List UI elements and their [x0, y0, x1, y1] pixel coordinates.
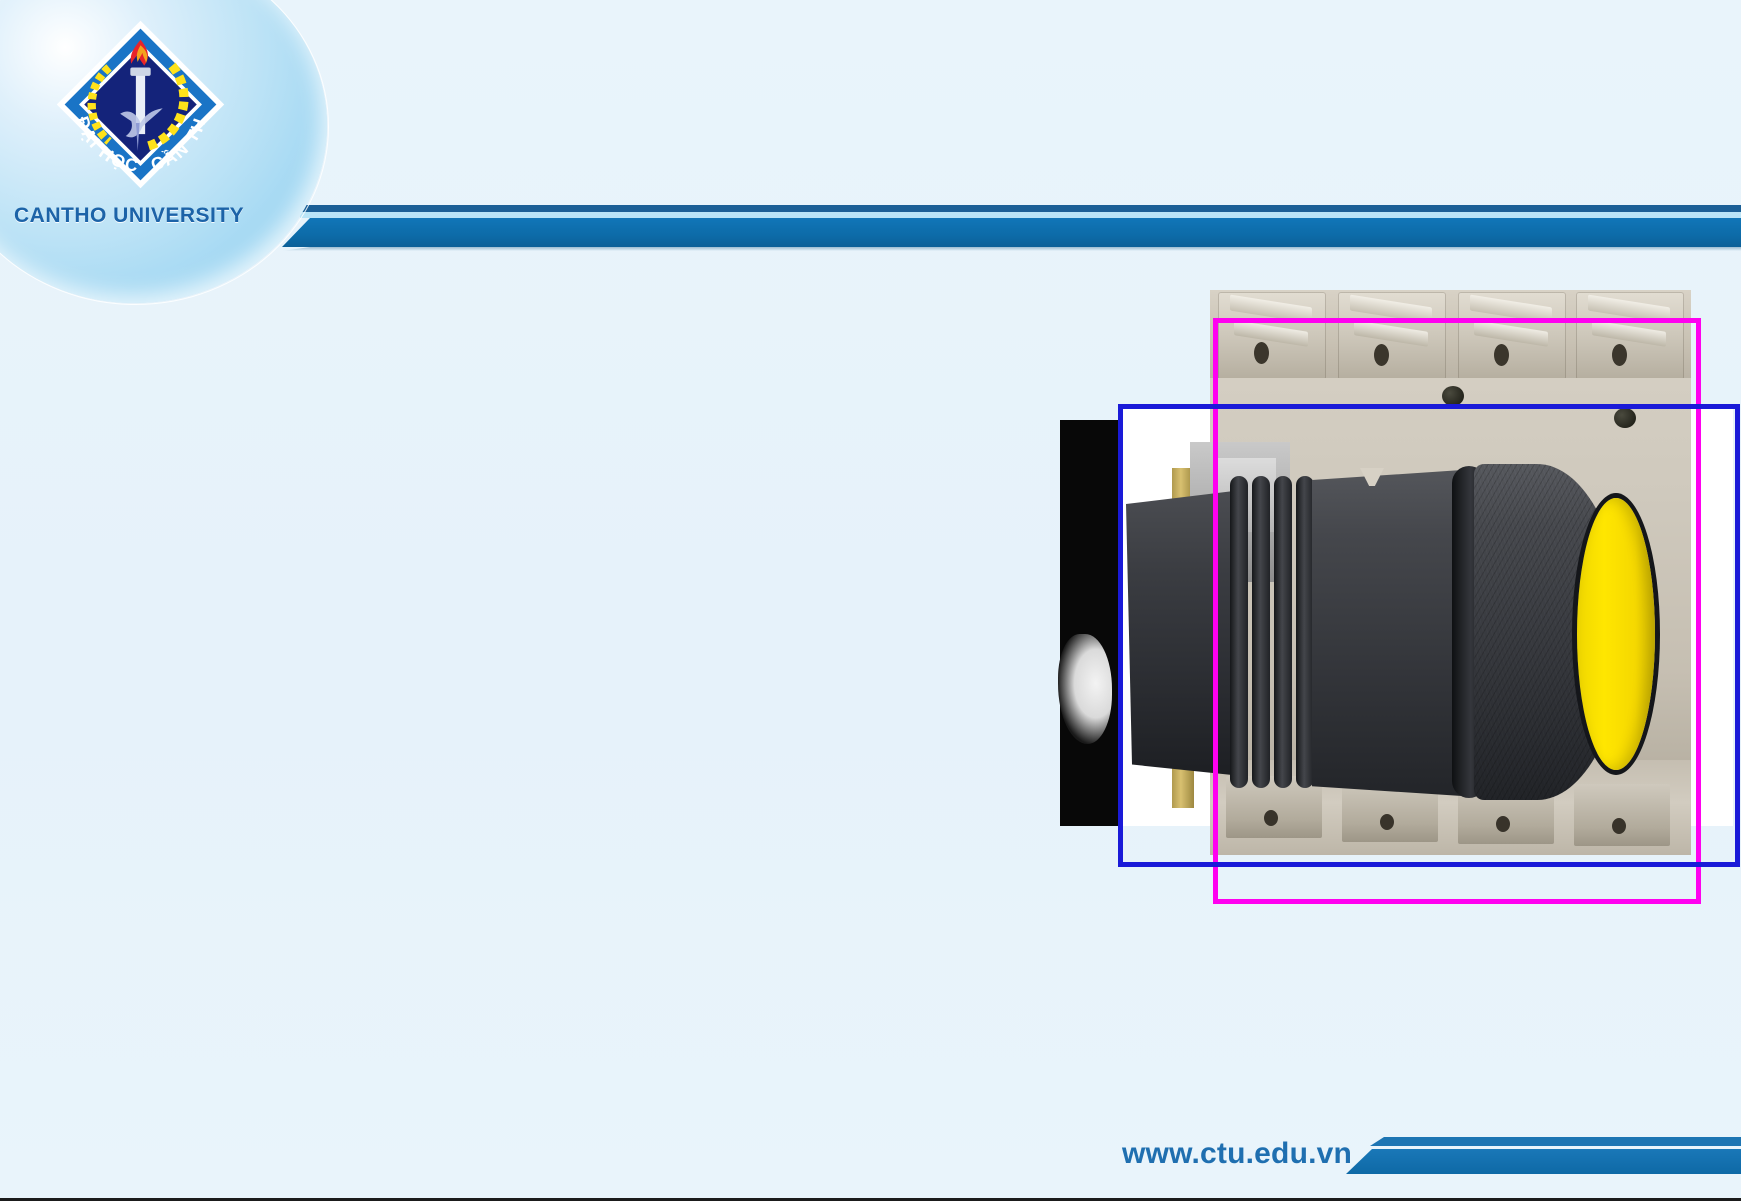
university-label: CANTHO UNIVERSITY — [14, 204, 244, 228]
footer-url[interactable]: www.ctu.edu.vn — [1122, 1137, 1352, 1171]
detection-box-blue — [1118, 404, 1740, 867]
header-bar — [282, 218, 1741, 247]
footer-bar-accent — [1370, 1137, 1741, 1146]
photo-backdrop-strip — [1060, 420, 1122, 826]
product-figure — [1060, 372, 1700, 952]
ctu-emblem-icon: ĐẠI HỌC CẦN THƠ — [48, 12, 233, 197]
slide-canvas: ĐẠI HỌC CẦN THƠ CANTHO UNIVERSITY — [0, 0, 1741, 1201]
header-rule-dark — [300, 205, 1741, 212]
slide-footer: www.ctu.edu.vn — [0, 1121, 1741, 1201]
header-rule-light — [300, 212, 1741, 218]
header-bar-shadow — [282, 247, 1741, 251]
footer-bar — [1346, 1149, 1741, 1174]
